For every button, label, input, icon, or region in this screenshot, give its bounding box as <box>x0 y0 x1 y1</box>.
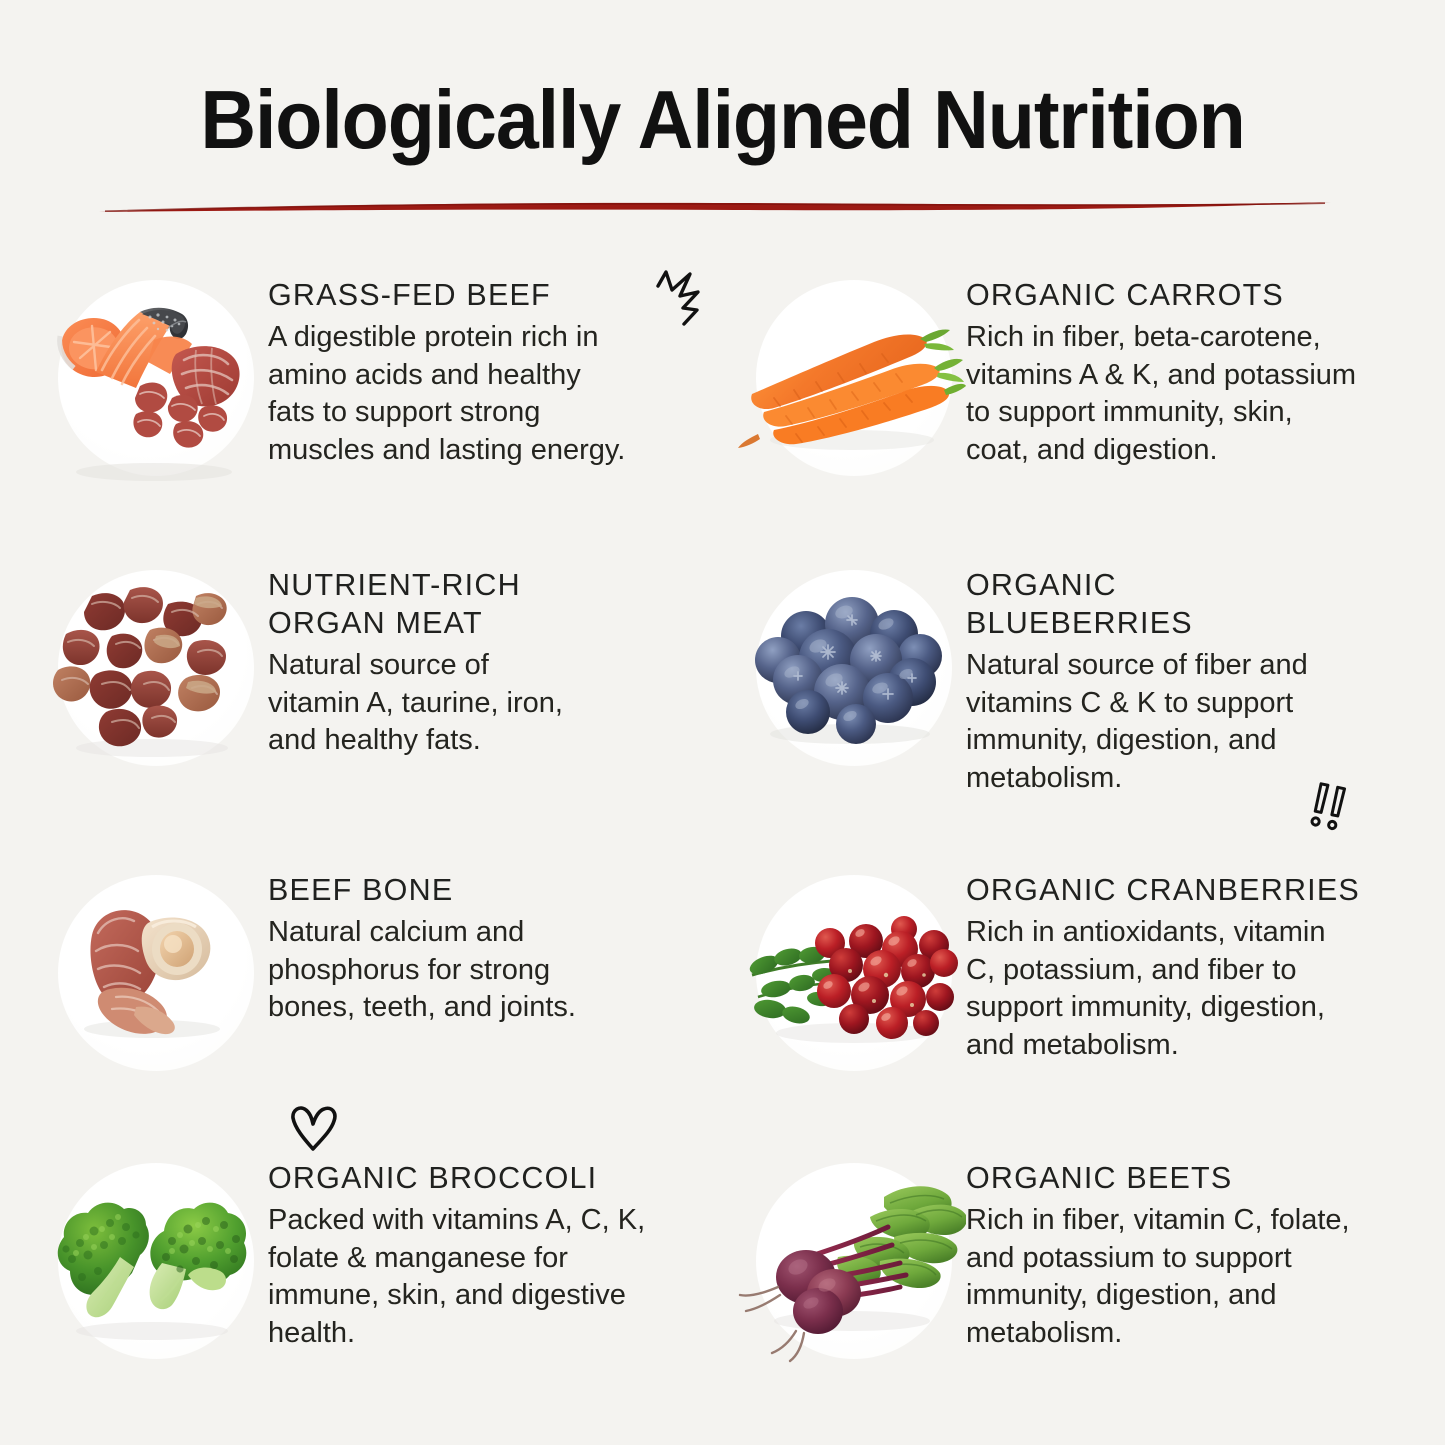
ingredient-title: ORGANIC BLUEBERRIES <box>966 566 1341 642</box>
ingredient-description: Natural source of vitamin A, taurine, ir… <box>268 647 598 760</box>
ingredient-text: GRASS-FED BEEF A digestible protein rich… <box>268 262 648 469</box>
ingredient-title: BEEF BONE <box>268 871 613 909</box>
beef-and-salmon-photo <box>36 262 268 494</box>
ingredient-card-nutrient-rich-organ-meat: NUTRIENT-RICH ORGAN MEAT Natural source … <box>0 552 722 797</box>
broccoli-photo <box>36 1145 268 1377</box>
ingredient-card-organic-blueberries: ORGANIC BLUEBERRIES Natural source of fi… <box>722 552 1445 797</box>
ingredient-description: A digestible protein rich in amino acids… <box>268 319 648 469</box>
blueberries-photo <box>734 552 966 784</box>
ingredient-text: ORGANIC BLUEBERRIES Natural source of fi… <box>966 552 1341 797</box>
ingredient-card-organic-broccoli: ORGANIC BROCCOLI Packed with vitamins A,… <box>0 1145 722 1377</box>
ingredient-title: ORGANIC BROCCOLI <box>268 1159 658 1197</box>
ingredient-card-organic-cranberries: ORGANIC CRANBERRIES Rich in antioxidants… <box>722 857 1445 1089</box>
ingredient-text: NUTRIENT-RICH ORGAN MEAT Natural source … <box>268 552 598 760</box>
ingredient-title: ORGANIC CARROTS <box>966 276 1386 314</box>
ingredient-text: BEEF BONE Natural calcium and phosphorus… <box>268 857 613 1027</box>
grid-row: NUTRIENT-RICH ORGAN MEAT Natural source … <box>0 552 1445 797</box>
ingredient-description: Natural calcium and phosphorus for stron… <box>268 914 613 1027</box>
ingredient-title: NUTRIENT-RICH ORGAN MEAT <box>268 566 598 642</box>
heart-doodle <box>284 1100 342 1156</box>
ingredient-title: ORGANIC CRANBERRIES <box>966 871 1366 909</box>
organ-meat-photo <box>36 552 268 784</box>
ingredient-text: ORGANIC BROCCOLI Packed with vitamins A,… <box>268 1145 658 1352</box>
ingredient-description: Rich in fiber, beta-carotene, vitamins A… <box>966 319 1386 469</box>
ingredient-description: Rich in antioxidants, vitamin C, potassi… <box>966 914 1366 1064</box>
ingredient-card-beef-bone: BEEF BONE Natural calcium and phosphorus… <box>0 857 722 1089</box>
ingredient-text: ORGANIC CRANBERRIES Rich in antioxidants… <box>966 857 1366 1064</box>
grid-row: BEEF BONE Natural calcium and phosphorus… <box>0 857 1445 1089</box>
ingredient-description: Rich in fiber, vitamin C, folate, and po… <box>966 1202 1366 1352</box>
ingredient-title: GRASS-FED BEEF <box>268 276 648 314</box>
infographic-page: Biologically Aligned Nutrition <box>0 0 1445 1445</box>
grid-row: GRASS-FED BEEF A digestible protein rich… <box>0 262 1445 494</box>
ingredient-card-organic-carrots: ORGANIC CARROTS Rich in fiber, beta-caro… <box>722 262 1445 494</box>
ingredient-grid: GRASS-FED BEEF A digestible protein rich… <box>0 262 1445 1377</box>
ingredient-text: ORGANIC BEETS Rich in fiber, vitamin C, … <box>966 1145 1366 1352</box>
ingredient-card-organic-beets: ORGANIC BEETS Rich in fiber, vitamin C, … <box>722 1145 1445 1377</box>
red-divider-rule <box>95 190 1335 224</box>
beef-bone-photo <box>36 857 268 1089</box>
zigzag-doodle <box>650 262 720 334</box>
ingredient-card-grass-fed-beef: GRASS-FED BEEF A digestible protein rich… <box>0 262 722 494</box>
ingredient-description: Natural source of fiber and vitamins C &… <box>966 647 1341 797</box>
page-title: Biologically Aligned Nutrition <box>51 72 1395 168</box>
carrots-photo <box>734 262 966 494</box>
grid-row: ORGANIC BROCCOLI Packed with vitamins A,… <box>0 1145 1445 1377</box>
ingredient-description: Packed with vitamins A, C, K, folate & m… <box>268 1202 658 1352</box>
ingredient-text: ORGANIC CARROTS Rich in fiber, beta-caro… <box>966 262 1386 469</box>
cranberries-photo <box>734 857 966 1089</box>
beets-photo <box>734 1145 966 1377</box>
double-exclamation-doodle <box>1298 778 1360 840</box>
ingredient-title: ORGANIC BEETS <box>966 1159 1366 1197</box>
